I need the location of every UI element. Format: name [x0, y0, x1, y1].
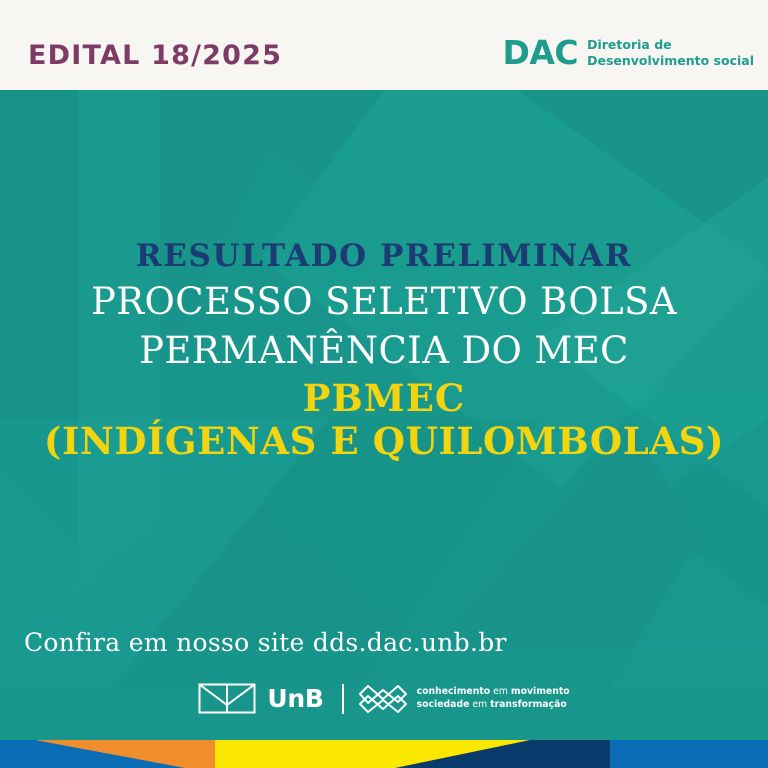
unb-wordmark: UnB: [267, 686, 323, 711]
tagline-word-em-1: em: [493, 686, 508, 697]
infinity-ribbon-icon: [358, 684, 408, 714]
tagline-word-movimento: movimento: [511, 686, 570, 697]
brand-lockup: conhecimento em movimento sociedade em t…: [342, 684, 570, 714]
tagline-word-sociedade: sociedade: [417, 699, 470, 710]
edital-label: EDITAL 18/2025: [28, 40, 282, 71]
title-line-2: PERMANÊNCIA DO MEC: [0, 328, 768, 373]
brand-tagline-line1: conhecimento em movimento: [417, 686, 570, 699]
footer-logo-row: UnB conhecimento em movimento sociedade …: [0, 683, 768, 714]
dac-wordmark: DAC: [502, 36, 578, 69]
result-kicker: RESULTADO PRELIMINAR: [0, 238, 768, 275]
title-block: RESULTADO PRELIMINAR PROCESSO SELETIVO B…: [0, 238, 768, 464]
poster-content: RESULTADO PRELIMINAR PROCESSO SELETIVO B…: [0, 88, 768, 740]
target-group-label: (INDÍGENAS E QUILOMBOLAS): [0, 420, 768, 464]
title-line-1: PROCESSO SELETIVO BOLSA: [0, 279, 768, 324]
tagline-word-conhecimento: conhecimento: [417, 686, 491, 697]
brand-tagline-line2: sociedade em transformação: [417, 699, 570, 712]
dac-subtitle-line2: Desenvolvimento social: [587, 53, 754, 68]
bottom-color-bar: [0, 740, 768, 768]
website-callout[interactable]: Confira em nosso site dds.dac.unb.br: [24, 628, 507, 657]
poster-canvas: EDITAL 18/2025 DAC Diretoria de Desenvol…: [0, 0, 768, 768]
tagline-word-transformacao: transformação: [490, 699, 567, 710]
unb-logo-lockup: UnB: [198, 683, 323, 714]
header-bar: EDITAL 18/2025 DAC Diretoria de Desenvol…: [0, 0, 768, 90]
dac-subtitle: Diretoria de Desenvolvimento social: [587, 37, 754, 68]
program-acronym: PBMEC: [0, 377, 768, 421]
unb-symbol-icon: [198, 683, 256, 714]
dac-logo: DAC Diretoria de Desenvolvimento social: [502, 36, 754, 69]
bar-segment-blue-right: [610, 740, 768, 768]
tagline-word-em-2: em: [472, 699, 487, 710]
dac-subtitle-line1: Diretoria de: [587, 37, 754, 52]
brand-tagline: conhecimento em movimento sociedade em t…: [417, 686, 570, 711]
color-bar-shapes: [0, 740, 768, 768]
